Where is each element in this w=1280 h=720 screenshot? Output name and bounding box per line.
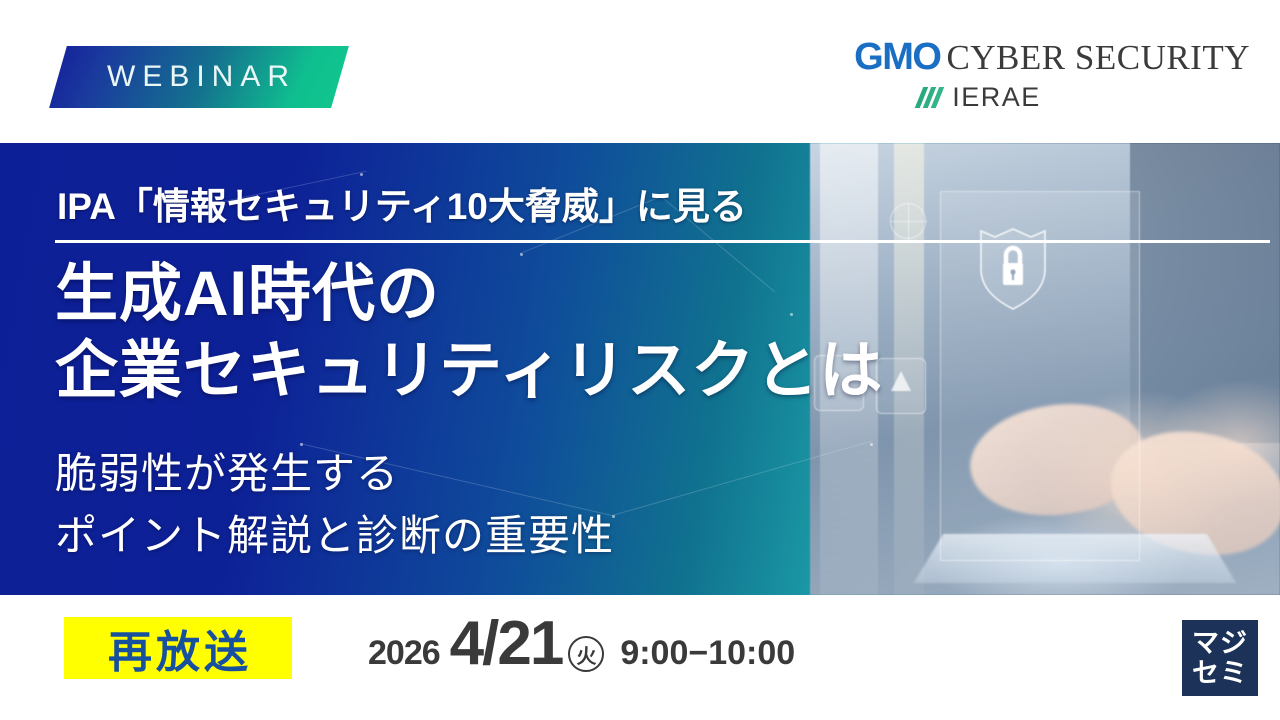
event-time: 9:00−10:00 (620, 634, 795, 673)
event-datetime: 2026 4/21 火 9:00−10:00 (368, 613, 795, 683)
event-day-of-week: 火 (568, 636, 604, 672)
hero-headline-line-2: 企業セキュリティリスクとは (55, 333, 883, 410)
hero-headline-line-1: 生成AI時代の (55, 256, 883, 333)
majisemi-line-2: セミ (1192, 658, 1248, 688)
event-year: 2026 (368, 634, 440, 673)
logo-primary-row: GMO CYBER SECURITY (830, 38, 1250, 80)
hero-text-block: IPA「情報セキュリティ10大脅威」に見る 生成AI時代の 企業セキュリティリス… (0, 143, 1280, 595)
logo-secondary-row: IERAE (830, 84, 1250, 111)
hero-subline-line-2: ポイント解説と診断の重要性 (55, 505, 614, 567)
event-day: 4/21 (450, 613, 563, 675)
hero-subline: 脆弱性が発生する ポイント解説と診断の重要性 (55, 443, 614, 567)
hero-eyebrow: IPA「情報セキュリティ10大脅威」に見る (57, 176, 747, 230)
rerun-badge-label: 再放送 (104, 616, 252, 680)
majisemi-logo: マジ セミ (1182, 620, 1258, 696)
webinar-badge-label: WEBINAR (101, 60, 296, 94)
gmo-cyber-security-logo: GMO CYBER SECURITY IERAE (830, 38, 1250, 116)
webinar-badge: WEBINAR (49, 46, 349, 108)
footer-bar: 再放送 2026 4/21 火 9:00−10:00 マジ セミ (0, 595, 1280, 720)
cyber-security-wordmark: CYBER SECURITY (946, 39, 1250, 77)
hero-subline-line-1: 脆弱性が発生する (55, 443, 614, 505)
hero-headline: 生成AI時代の 企業セキュリティリスクとは (55, 256, 883, 410)
hero-divider (55, 240, 1270, 243)
ierae-wordmark: IERAE (952, 84, 1041, 111)
rerun-badge: 再放送 (64, 617, 292, 679)
top-bar: WEBINAR GMO CYBER SECURITY IERAE (0, 0, 1280, 143)
hero-banner: IPA「情報セキュリティ10大脅威」に見る 生成AI時代の 企業セキュリティリス… (0, 143, 1280, 595)
gmo-wordmark: GMO (854, 38, 940, 76)
ierae-slash-icon (919, 87, 943, 108)
majisemi-line-1: マジ (1192, 628, 1248, 658)
